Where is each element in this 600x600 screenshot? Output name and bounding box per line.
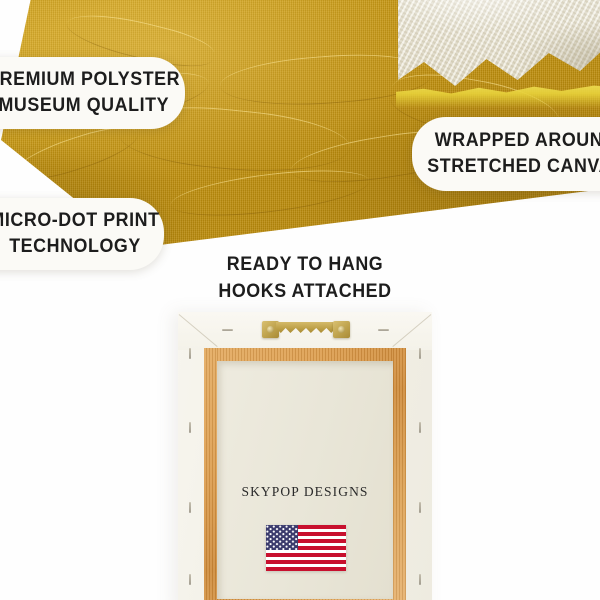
- staple-mark: [419, 348, 421, 359]
- sawtooth-hanger-icon: [262, 321, 350, 338]
- flag-canton: [266, 525, 298, 550]
- staple-mark: [222, 329, 233, 331]
- staple-mark: [189, 348, 191, 359]
- feature-badge-micro-dot-print: MICRO-DOT PRINT TECHNOLOGY: [0, 198, 164, 270]
- us-flag-icon: [266, 525, 346, 571]
- feature-badge-wrapped-around: WRAPPED AROUND STRETCHED CANVAS: [412, 117, 600, 191]
- staple-mark: [189, 502, 191, 513]
- hanger-sawtooth-bar: [276, 322, 336, 333]
- badge-line-1: PREMIUM POLYSTER: [0, 67, 180, 93]
- hanger-screw-plate-right: [333, 321, 350, 338]
- ready-to-hang-text: READY TO HANG HOOKS ATTACHED: [190, 252, 420, 305]
- center-line-2: HOOKS ATTACHED: [197, 279, 413, 306]
- badge-line-2: TECHNOLOGY: [9, 234, 141, 260]
- staple-mark: [378, 329, 389, 331]
- product-feature-image: PREMIUM POLYSTER MUSEUM QUALITY WRAPPED …: [0, 0, 600, 600]
- badge-line-1: MICRO-DOT PRINT: [0, 208, 160, 234]
- brand-label: SKYPOP DESIGNS: [178, 484, 432, 500]
- staple-mark: [419, 574, 421, 585]
- flag-stars: [266, 525, 298, 550]
- center-line-1: READY TO HANG: [197, 252, 413, 279]
- staple-mark: [189, 574, 191, 585]
- feature-badge-premium-polyster: PREMIUM POLYSTER MUSEUM QUALITY: [0, 57, 185, 129]
- staple-mark: [419, 502, 421, 513]
- badge-line-2: MUSEUM QUALITY: [0, 93, 169, 119]
- staple-mark: [189, 422, 191, 433]
- badge-line-2: STRETCHED CANVAS: [427, 154, 600, 180]
- badge-line-1: WRAPPED AROUND: [435, 128, 600, 154]
- staple-mark: [419, 422, 421, 433]
- canvas-back-view: SKYPOP DESIGNS: [178, 312, 432, 600]
